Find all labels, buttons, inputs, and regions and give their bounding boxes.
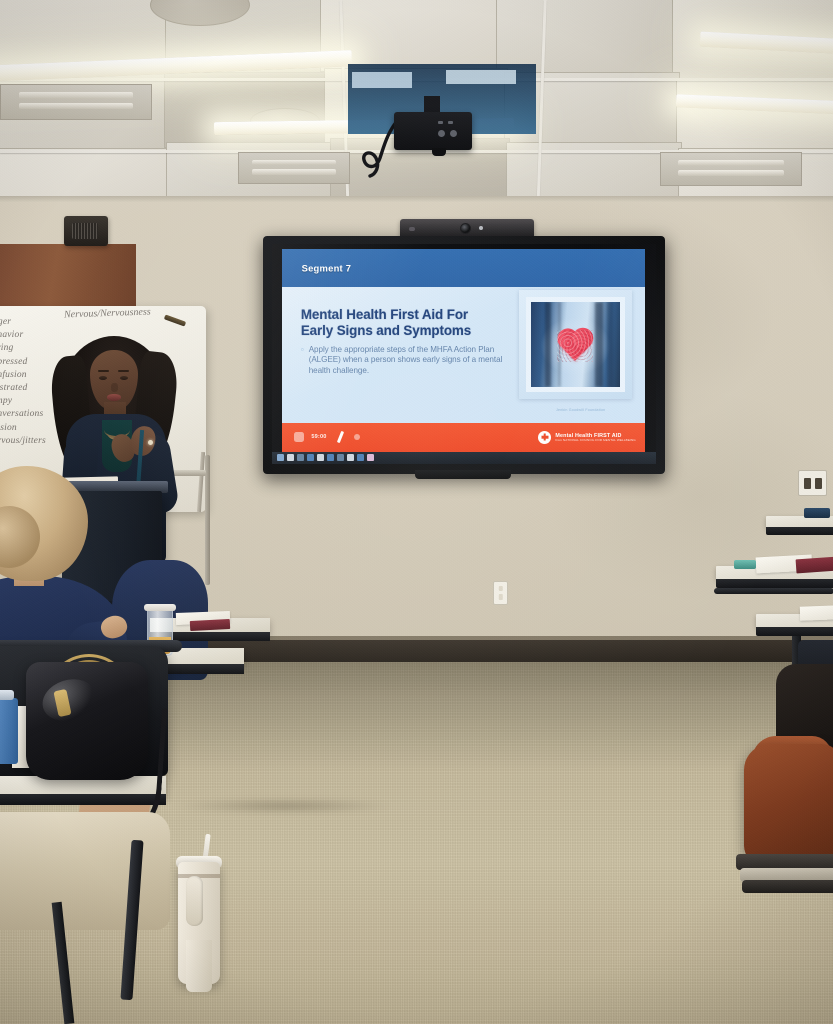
slide-header-band: Segment 7 [282,249,645,287]
pen-tool-icon[interactable] [336,431,343,443]
presentation-timer: 59:00 [311,434,326,440]
workbook[interactable] [190,619,230,631]
bag-base-dark [742,880,833,893]
whiteboard-note: behavior [0,329,46,342]
wall-ceiling-seam [0,196,833,202]
brown-leather-bag [744,744,833,864]
whiteboard-notes: anger behavior crying depressed confusio… [0,316,46,448]
projector-lens [432,148,446,156]
wall-power-plate[interactable] [798,470,827,496]
powerpoint-icon[interactable] [357,454,364,461]
tv-wall-mount [415,470,511,479]
air-vent-left [0,84,152,120]
search-icon[interactable] [287,454,294,461]
explorer-icon[interactable] [307,454,314,461]
slide-title-line2: Early Signs and Symptoms [301,323,471,338]
whiteboard-note: jumpy [0,395,46,408]
browser-icon[interactable] [317,454,324,461]
projector [394,112,472,150]
mail-icon[interactable] [327,454,334,461]
bullet-marker-icon: ▫ [301,345,304,377]
logo-secondary-text: from NATIONAL COUNCIL FOR MENTAL WELLBEI… [555,439,635,442]
teams-icon[interactable] [337,454,344,461]
slide-image-mat [526,297,625,392]
slide-segment-label: Segment 7 [302,263,352,274]
whiteboard-note: nervous/jitters [0,435,46,448]
app-icon[interactable] [367,454,374,461]
whiteboard-heading: Nervous/Nervousness [64,306,151,320]
whiteboard-note: confusion [0,369,46,382]
wall-speaker [64,216,108,246]
whiteboard-note: conversations [0,408,46,421]
mhfa-logo: Mental Health FIRST AID from NATIONAL CO… [538,431,635,444]
cross-logo-icon [538,431,551,444]
camera-microphone [409,227,415,231]
heart-brain-photo [531,302,620,387]
slide-image-column: Jenkin Goodwill Foundation [511,287,645,423]
slide-title-line1: Mental Health First Aid For [301,307,468,322]
whiteboard-note: anger [0,316,46,329]
slide-title: Mental Health First Aid For Early Signs … [301,307,504,340]
papers[interactable] [800,605,833,620]
air-vent-right [660,152,802,186]
air-vent-center [238,152,350,184]
phone-case[interactable] [734,560,756,569]
slide-bullet: ▫ Apply the appropriate steps of the MHF… [301,345,504,377]
tumbler-handle [186,876,203,926]
water-bottle[interactable] [0,698,18,764]
whiteboard-note: tension [0,422,46,435]
slide-image-frame [519,290,632,399]
whiteboard-note: crying [0,342,46,355]
slide-text-column: Mental Health First Aid For Early Signs … [282,287,511,423]
presenter-face [90,350,138,410]
classroom-scene: Nervous/Nervousness anger behavior cryin… [0,0,833,1024]
ceiling [0,0,833,212]
word-icon[interactable] [347,454,354,461]
camera-lens-icon [460,223,471,234]
slide-body: Mental Health First Aid For Early Signs … [282,287,645,423]
presentation-slide: Segment 7 Mental Health First Aid For Ea… [282,249,645,451]
wall-mounted-television[interactable]: Segment 7 Mental Health First Aid For Ea… [263,236,665,474]
slide-image-caption: Jenkin Goodwill Foundation [530,408,632,412]
slide-footer-band: 59:00 Mental Health FIRST AID from NATIO… [282,423,645,451]
start-icon[interactable] [277,454,284,461]
more-options-icon[interactable] [354,434,360,440]
workbook[interactable] [796,557,833,574]
windows-taskbar[interactable] [272,452,656,464]
whiteboard-marker[interactable] [164,314,186,326]
tv-screen[interactable]: Segment 7 Mental Health First Aid For Ea… [272,244,656,464]
heart-icon [560,331,590,361]
chair-seat[interactable] [0,812,170,930]
whiteboard-note: depressed [0,356,46,369]
mobile-phone[interactable] [804,508,830,518]
stop-record-icon[interactable] [294,432,304,442]
camera-status-led [479,226,483,230]
whiteboard-note: frustrated [0,382,46,395]
slide-bullet-text: Apply the appropriate steps of the MHFA … [309,345,504,377]
presenter-toolbar[interactable]: 59:00 [294,431,359,443]
taskview-icon[interactable] [297,454,304,461]
ring [148,440,153,445]
wall-outlet[interactable] [493,581,508,605]
wood-wall-panel [0,244,136,314]
